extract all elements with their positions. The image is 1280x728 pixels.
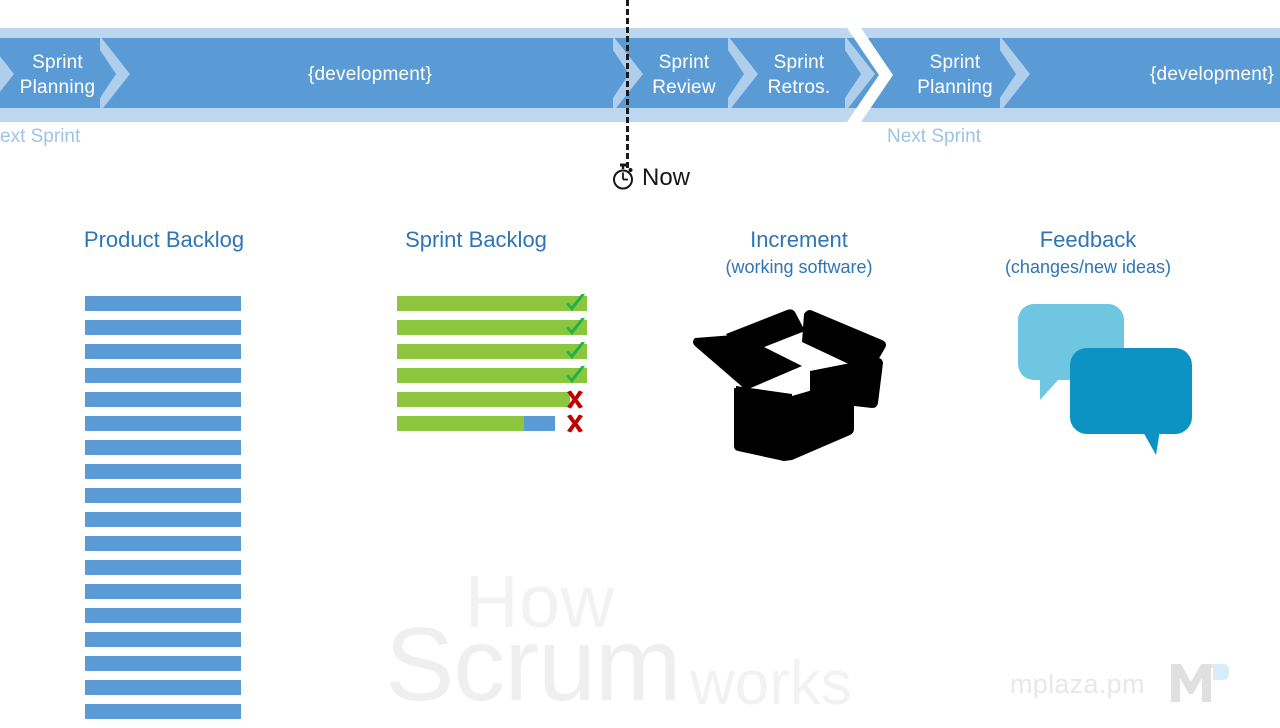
product-backlog-item[interactable]: [85, 368, 241, 383]
brand: mplaza.pm: [1010, 660, 1229, 709]
product-backlog-item[interactable]: [85, 392, 241, 407]
check-icon: [563, 292, 587, 316]
column-title-product-backlog: Product Backlog: [44, 226, 284, 254]
mp-logo-icon: [1169, 660, 1229, 709]
sprint-backlog-item-progress: [397, 344, 587, 359]
product-backlog-item[interactable]: [85, 488, 241, 503]
column-subtitle-increment: (working software): [679, 254, 919, 280]
cross-icon: [563, 412, 587, 436]
next-sprint-label-right: Next Sprint: [820, 126, 1048, 148]
timeline-band-bottom: [0, 108, 1280, 122]
sprint-backlog-item[interactable]: [397, 416, 587, 431]
product-backlog-item[interactable]: [85, 320, 241, 335]
sprint-timeline: Sprint Planning {development} Sprint Rev…: [0, 0, 1280, 160]
timeline-stage-sprint-planning-1[interactable]: Sprint Planning: [0, 50, 115, 100]
sprint-backlog-item[interactable]: [397, 320, 587, 335]
column-title-sprint-backlog: Sprint Backlog: [356, 226, 596, 254]
speech-bubble-front: [1070, 348, 1192, 455]
column-title-increment: Increment: [679, 226, 919, 254]
column-heading-increment: Increment (working software): [679, 226, 919, 280]
now-marker: Now: [610, 162, 690, 195]
check-icon: [563, 316, 587, 340]
product-backlog-item[interactable]: [85, 704, 241, 719]
check-icon: [563, 364, 587, 388]
product-backlog-item[interactable]: [85, 632, 241, 647]
sprint-backlog-item-progress: [397, 416, 524, 431]
column-title-feedback: Feedback: [963, 226, 1213, 254]
sprint-backlog-item-progress: [397, 392, 570, 407]
cross-icon: [563, 388, 587, 412]
column-heading-sprint-backlog: Sprint Backlog: [356, 226, 596, 254]
column-subtitle-feedback: (changes/new ideas): [963, 254, 1213, 280]
sprint-backlog-list: [397, 296, 587, 440]
sprint-backlog-item-progress: [397, 320, 587, 335]
now-label: Now: [642, 166, 690, 192]
sprint-backlog-item[interactable]: [397, 344, 587, 359]
product-backlog-list: [85, 296, 241, 728]
product-backlog-item[interactable]: [85, 344, 241, 359]
product-backlog-item[interactable]: [85, 416, 241, 431]
brand-text: mplaza.pm: [1010, 671, 1145, 698]
sprint-backlog-item[interactable]: [397, 296, 587, 311]
stopwatch-icon: [610, 162, 636, 195]
next-sprint-label-left: ext Sprint: [0, 126, 84, 148]
product-backlog-item[interactable]: [85, 296, 241, 311]
product-backlog-item[interactable]: [85, 656, 241, 671]
open-box-icon: [692, 298, 892, 468]
sprint-backlog-item[interactable]: [397, 368, 587, 383]
product-backlog-item[interactable]: [85, 440, 241, 455]
product-backlog-item[interactable]: [85, 560, 241, 575]
sprint-backlog-item-progress: [397, 368, 587, 383]
timeline-stage-sprint-retros[interactable]: Sprint Retros.: [745, 50, 853, 100]
watermark-scrum: Scrum: [385, 613, 680, 717]
product-backlog-item[interactable]: [85, 608, 241, 623]
timeline-stage-development-1[interactable]: {development}: [250, 62, 490, 87]
column-heading-feedback: Feedback (changes/new ideas): [963, 226, 1213, 280]
product-backlog-item[interactable]: [85, 512, 241, 527]
product-backlog-item[interactable]: [85, 464, 241, 479]
product-backlog-item[interactable]: [85, 536, 241, 551]
timeline-stage-sprint-review[interactable]: Sprint Review: [630, 50, 738, 100]
watermark-works: works: [690, 653, 852, 715]
check-icon: [563, 340, 587, 364]
sprint-backlog-item-progress: [397, 296, 587, 311]
sprint-backlog-item[interactable]: [397, 392, 587, 407]
column-heading-product-backlog: Product Backlog: [44, 226, 284, 254]
timeline-stage-development-2[interactable]: {development}: [1150, 62, 1280, 87]
now-dashed-line: [626, 0, 629, 168]
timeline-stage-sprint-planning-2[interactable]: Sprint Planning: [900, 50, 1010, 100]
watermark-how: How: [465, 565, 615, 639]
speech-bubbles-icon: [1014, 300, 1204, 465]
product-backlog-item[interactable]: [85, 680, 241, 695]
product-backlog-item[interactable]: [85, 584, 241, 599]
